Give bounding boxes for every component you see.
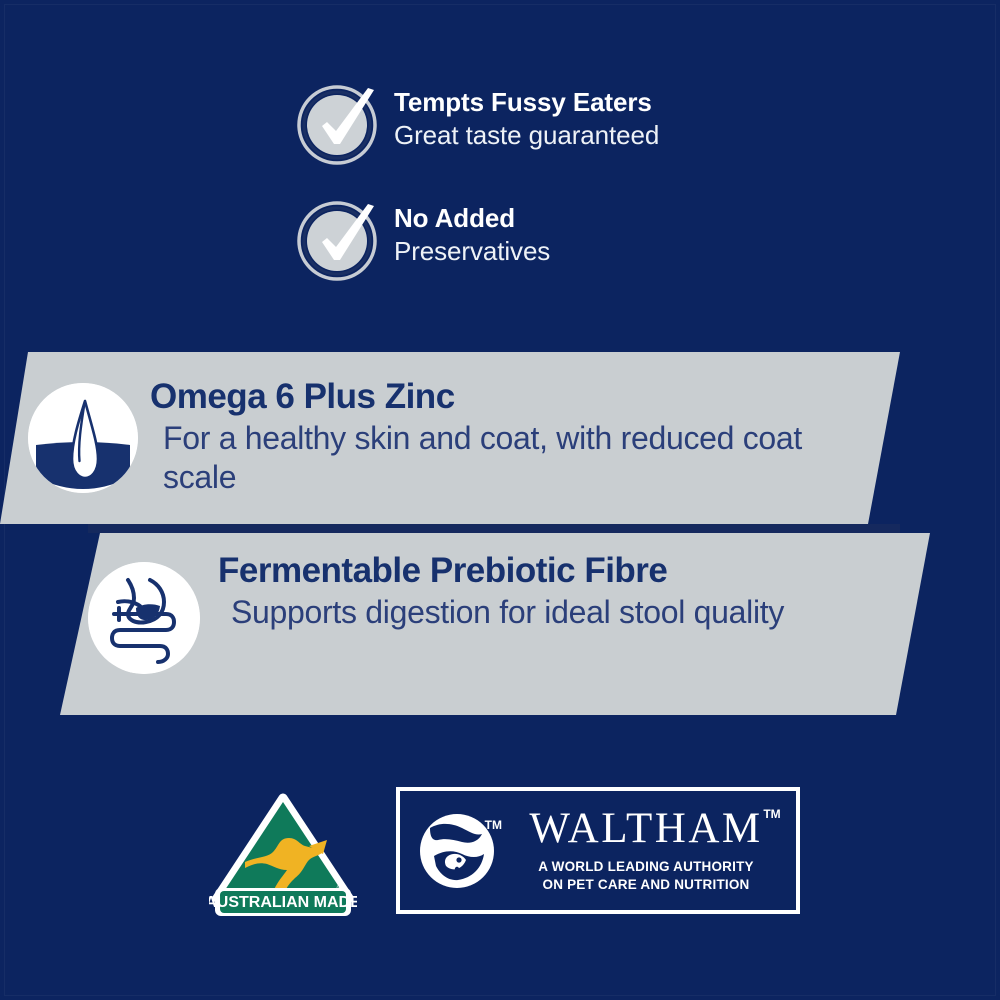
benefit-bullet-subtitle: Great taste guaranteed [394,120,659,151]
waltham-text-block: WALTHAMTM A WORLD LEADING AUTHORITY ON P… [502,807,796,894]
registered-mark: ® [337,883,344,893]
check-circle-icon [296,198,380,282]
benefit-bullet-tempts-fussy-eaters: Tempts Fussy Eaters Great taste guarante… [296,82,659,166]
benefit-bullet-list: Tempts Fussy Eaters Great taste guarante… [296,82,659,282]
benefit-bullet-text: Tempts Fussy Eaters Great taste guarante… [394,82,659,151]
waltham-logo: TM WALTHAMTM A WORLD LEADING AUTHORITY O… [396,787,800,914]
product-feature-panel: Tempts Fussy Eaters Great taste guarante… [0,0,1000,1000]
waltham-mark-trademark: TM [485,818,502,832]
waltham-tagline-line-1: A WORLD LEADING AUTHORITY [502,858,790,876]
australian-made-label: AUSTRALIAN MADE [209,894,357,911]
feature-title: Omega 6 Plus Zinc [150,378,850,417]
banner-divider [88,524,900,533]
benefit-bullet-title: No Added [394,204,550,233]
benefit-bullet-title: Tempts Fussy Eaters [394,88,659,117]
feature-text-omega-6-plus-zinc: Omega 6 Plus Zinc For a healthy skin and… [150,378,850,497]
check-circle-icon [296,82,380,166]
feature-text-fermentable-prebiotic-fibre: Fermentable Prebiotic Fibre Supports dig… [218,552,918,632]
waltham-pet-circle-icon: TM [418,812,496,890]
digestive-system-icon [88,562,200,674]
waltham-trademark: TM [763,808,780,820]
benefit-bullet-text: No Added Preservatives [394,198,550,267]
benefit-bullet-subtitle: Preservatives [394,236,550,267]
feature-title: Fermentable Prebiotic Fibre [218,552,918,591]
australian-made-kangaroo-icon: AUSTRALIAN MADE ® [209,790,357,922]
footer-logos: AUSTRALIAN MADE ® TM [0,783,1000,933]
waltham-tagline-line-2: ON PET CARE AND NUTRITION [502,876,790,894]
waltham-wordmark-text: WALTHAM [529,805,762,852]
benefit-bullet-no-added-preservatives: No Added Preservatives [296,198,659,282]
waltham-tagline: A WORLD LEADING AUTHORITY ON PET CARE AN… [502,858,790,894]
feature-description: For a healthy skin and coat, with reduce… [150,419,850,497]
hair-follicle-icon [28,383,138,493]
feature-description: Supports digestion for ideal stool quali… [218,593,918,632]
waltham-wordmark: WALTHAMTM [529,807,762,850]
